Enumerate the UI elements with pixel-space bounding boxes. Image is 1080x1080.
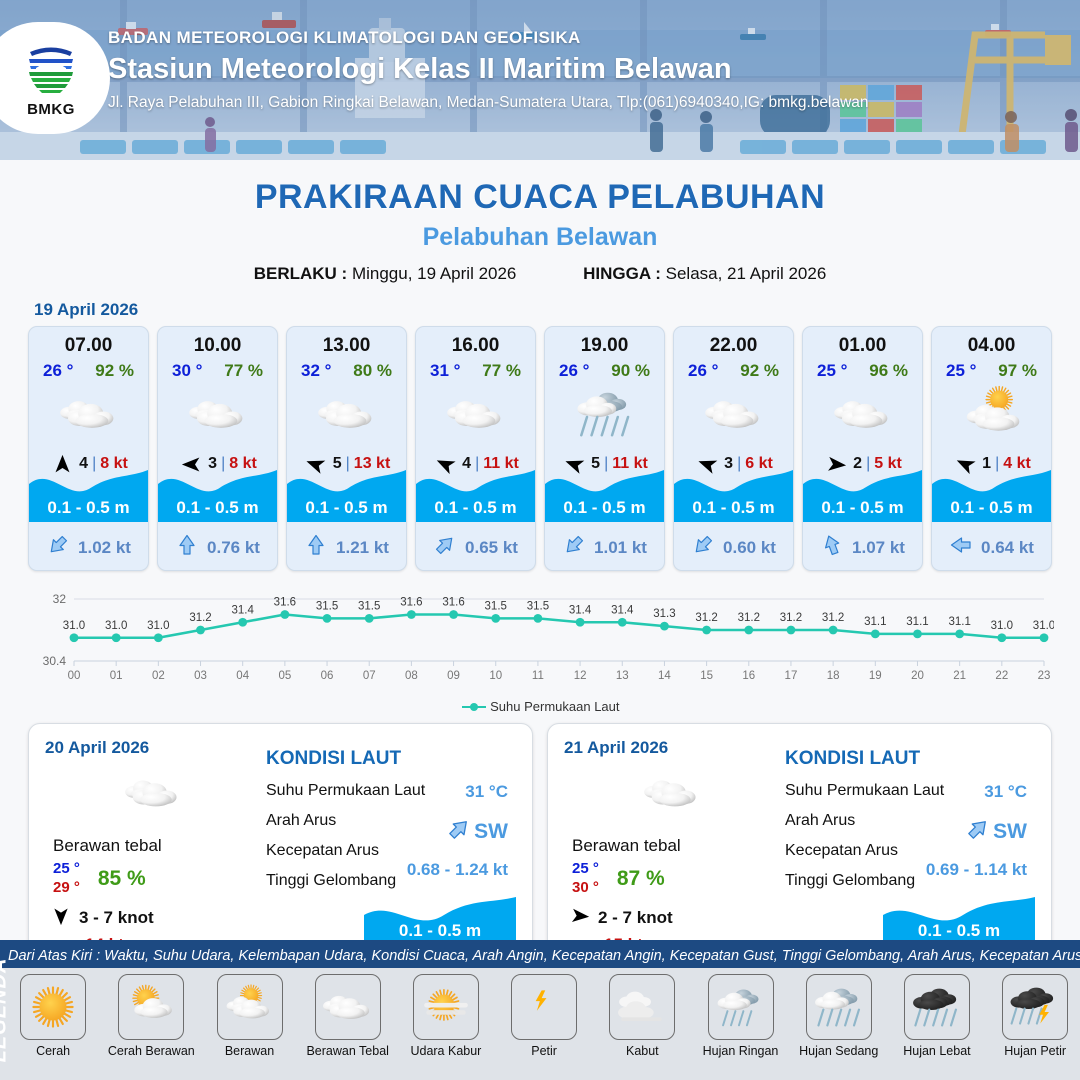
- weather-rain-heavy-icon: [904, 974, 970, 1040]
- legend-item: Hujan Petir: [986, 974, 1080, 1058]
- forecast-card: 04.00 25 ° 97 %: [931, 326, 1052, 571]
- svg-text:03: 03: [194, 670, 207, 682]
- sst-chart-svg: 3230.40001020304050607080910111213141516…: [26, 587, 1054, 687]
- summary-condition: Berawan tebal: [572, 836, 779, 856]
- summary-sea-conditions: KONDISI LAUT Suhu Permukaan Laut Arah Ar…: [260, 738, 516, 953]
- card-current-row: 0.60 kt: [674, 533, 793, 562]
- card-humidity: 90 %: [611, 361, 650, 381]
- summary-left: 21 April 2026 Berawan tebal: [564, 738, 779, 953]
- wave-height: 0.1 - 0.5 m: [287, 498, 406, 518]
- svg-text:16: 16: [742, 670, 755, 682]
- card-temperature: 26 °: [688, 361, 718, 381]
- current-speed: 0.64 kt: [981, 538, 1034, 558]
- current-direction-arrow-icon: [175, 533, 199, 562]
- summary-temp-max: 30 °: [572, 879, 599, 898]
- summary-date: 20 April 2026: [45, 738, 260, 758]
- weather-sun-clouds-icon: [217, 974, 283, 1040]
- summary-temp-max: 29 °: [53, 879, 80, 898]
- sst-chart: 3230.40001020304050607080910111213141516…: [26, 587, 1054, 697]
- summary-condition: Berawan tebal: [53, 836, 260, 856]
- svg-text:19: 19: [869, 670, 882, 682]
- legend-item-label: Hujan Ringan: [703, 1044, 779, 1058]
- card-humidity: 80 %: [353, 361, 392, 381]
- value-current-speed: 0.69 - 1.14 kt: [926, 860, 1027, 880]
- legend-item-row: Cerah Cerah Berawan: [0, 968, 1080, 1080]
- card-humidity: 96 %: [869, 361, 908, 381]
- weather-lightning-icon: [511, 974, 577, 1040]
- current-direction-arrow-icon: [965, 816, 991, 848]
- svg-text:14: 14: [658, 670, 671, 682]
- svg-text:04: 04: [236, 670, 249, 682]
- legend-item-label: Cerah Berawan: [108, 1044, 195, 1058]
- weather-sun-icon: [20, 974, 86, 1040]
- svg-text:31.5: 31.5: [358, 600, 380, 612]
- header-text-block: BADAN METEOROLOGI KLIMATOLOGI DAN GEOFIS…: [108, 28, 869, 112]
- svg-text:13: 13: [616, 670, 629, 682]
- svg-text:31.4: 31.4: [232, 604, 255, 616]
- forecast-card: 16.00 31 ° 77 %: [415, 326, 536, 571]
- card-time: 22.00: [674, 327, 793, 357]
- value-current-direction: SW: [965, 816, 1027, 848]
- card-temp-humidity: 30 ° 77 %: [158, 357, 277, 381]
- weather-cloudy-icon: [416, 383, 535, 445]
- chart-legend: Suhu Permukaan Laut: [0, 699, 1080, 715]
- wave-height: 0.1 - 0.5 m: [932, 498, 1051, 518]
- card-time: 13.00: [287, 327, 406, 357]
- legend-caption: Dari Atas Kiri : Waktu, Suhu Udara, Kele…: [0, 940, 1080, 968]
- current-direction-arrow-icon: [433, 533, 457, 562]
- card-temperature: 26 °: [559, 361, 589, 381]
- card-current-row: 0.76 kt: [158, 533, 277, 562]
- summary-temp-humidity: 25 ° 29 ° 85 %: [53, 860, 260, 898]
- current-speed: 1.07 kt: [852, 538, 905, 558]
- svg-text:10: 10: [489, 670, 502, 682]
- agency-name: BADAN METEOROLOGI KLIMATOLOGI DAN GEOFIS…: [108, 28, 869, 48]
- legend-item: Berawan: [200, 974, 298, 1058]
- legend-body: Dari Atas Kiri : Waktu, Suhu Udara, Kele…: [0, 940, 1080, 1080]
- weather-cloudy-icon: [564, 762, 779, 824]
- hourly-forecast-row: 07.00 26 ° 92 %: [0, 326, 1080, 571]
- legend-item: Berawan Tebal: [299, 974, 397, 1058]
- card-temperature: 30 °: [172, 361, 202, 381]
- validity-row: BERLAKU : Minggu, 19 April 2026 HINGGA :…: [0, 264, 1080, 284]
- legend-item-label: Hujan Lebat: [903, 1044, 970, 1058]
- card-temp-humidity: 32 ° 80 %: [287, 357, 406, 381]
- current-speed: 0.76 kt: [207, 538, 260, 558]
- svg-text:31.1: 31.1: [906, 616, 928, 628]
- valid-until-value: Selasa, 21 April 2026: [666, 264, 827, 283]
- svg-text:31.2: 31.2: [738, 612, 760, 624]
- card-humidity: 77 %: [482, 361, 521, 381]
- summary-humidity: 85 %: [98, 867, 146, 891]
- svg-text:08: 08: [405, 670, 418, 682]
- weather-partly-sunny-icon: [932, 383, 1051, 445]
- legend-item: Petir: [495, 974, 593, 1058]
- card-current-row: 1.02 kt: [29, 533, 148, 562]
- value-current-direction-text: SW: [993, 820, 1027, 844]
- page-header: BMKG BADAN METEOROLOGI KLIMATOLOGI DAN G…: [0, 0, 1080, 160]
- card-temperature: 26 °: [43, 361, 73, 381]
- card-time: 10.00: [158, 327, 277, 357]
- legend-item-label: Petir: [531, 1044, 557, 1058]
- current-speed: 1.02 kt: [78, 538, 131, 558]
- summary-temp-humidity: 25 ° 30 ° 87 %: [572, 860, 779, 898]
- card-time: 19.00: [545, 327, 664, 357]
- svg-text:15: 15: [700, 670, 713, 682]
- card-humidity: 77 %: [224, 361, 263, 381]
- wave-height: 0.1 - 0.5 m: [29, 498, 148, 518]
- svg-text:31.4: 31.4: [569, 604, 592, 616]
- legend-footer: LEGENDA Dari Atas Kiri : Waktu, Suhu Uda…: [0, 940, 1080, 1080]
- svg-text:21: 21: [953, 670, 966, 682]
- current-speed: 0.60 kt: [723, 538, 776, 558]
- svg-text:02: 02: [152, 670, 165, 682]
- current-speed: 0.65 kt: [465, 538, 518, 558]
- station-address: Jl. Raya Pelabuhan III, Gabion Ringkai B…: [108, 94, 869, 112]
- card-temperature: 25 °: [946, 361, 976, 381]
- card-temperature: 25 °: [817, 361, 847, 381]
- weather-sun-cloud-icon: [118, 974, 184, 1040]
- svg-text:31.1: 31.1: [864, 616, 886, 628]
- card-time: 07.00: [29, 327, 148, 357]
- svg-text:31.0: 31.0: [1033, 620, 1054, 632]
- legend-item-label: Hujan Petir: [1004, 1044, 1066, 1058]
- value-current-direction-text: SW: [474, 820, 508, 844]
- forecast-card: 19.00 26 ° 90 %: [544, 326, 665, 571]
- card-humidity: 92 %: [95, 361, 134, 381]
- svg-text:31.6: 31.6: [442, 597, 464, 609]
- current-direction-arrow-icon: [562, 533, 586, 562]
- legend-item-label: Berawan: [225, 1044, 274, 1058]
- weather-cloudy-icon: [674, 383, 793, 445]
- card-temp-humidity: 26 ° 92 %: [29, 357, 148, 381]
- svg-text:31.0: 31.0: [991, 620, 1013, 632]
- legend-item-label: Berawan Tebal: [306, 1044, 388, 1058]
- card-temp-humidity: 31 ° 77 %: [416, 357, 535, 381]
- summary-temp-min: 25 °: [572, 860, 599, 879]
- legend-item: Hujan Sedang: [790, 974, 888, 1058]
- weather-clouds-icon: [315, 974, 381, 1040]
- current-direction-arrow-icon: [304, 533, 328, 562]
- legend-item: Cerah Berawan: [102, 974, 200, 1058]
- summary-humidity: 87 %: [617, 867, 665, 891]
- summary-sea-conditions: KONDISI LAUT Suhu Permukaan Laut Arah Ar…: [779, 738, 1035, 953]
- summary-wind-row: 3 - 7 knot: [51, 906, 260, 931]
- weather-rain-thunder-icon: [1002, 974, 1068, 1040]
- weather-cloudy-icon: [803, 383, 922, 445]
- svg-text:20: 20: [911, 670, 924, 682]
- card-time: 04.00: [932, 327, 1051, 357]
- forecast-card: 10.00 30 ° 77 %: [157, 326, 278, 571]
- svg-text:09: 09: [447, 670, 460, 682]
- forecast-date-label: 19 April 2026: [34, 300, 1080, 320]
- page-subtitle: Pelabuhan Belawan: [0, 223, 1080, 252]
- card-temp-humidity: 25 ° 96 %: [803, 357, 922, 381]
- svg-text:31.2: 31.2: [822, 612, 844, 624]
- legend-item: Kabut: [593, 974, 691, 1058]
- valid-until-label: HINGGA :: [583, 264, 661, 283]
- forecast-card: 13.00 32 ° 80 %: [286, 326, 407, 571]
- legend-side-label: LEGENDA: [0, 958, 12, 1063]
- value-wave-height: 0.1 - 0.5 m: [883, 921, 1035, 941]
- legend-item-label: Hujan Sedang: [799, 1044, 878, 1058]
- value-current-speed: 0.68 - 1.24 kt: [407, 860, 508, 880]
- svg-text:31.2: 31.2: [780, 612, 802, 624]
- svg-text:31.0: 31.0: [63, 620, 85, 632]
- card-humidity: 92 %: [740, 361, 779, 381]
- valid-from-value: Minggu, 19 April 2026: [352, 264, 516, 283]
- svg-text:31.3: 31.3: [653, 608, 675, 620]
- card-temperature: 32 °: [301, 361, 331, 381]
- svg-text:22: 22: [995, 670, 1008, 682]
- wind-direction-arrow-icon: [570, 906, 590, 931]
- title-block: PRAKIRAAN CUACA PELABUHAN Pelabuhan Bela…: [0, 178, 1080, 284]
- svg-text:31.2: 31.2: [695, 612, 717, 624]
- station-name: Stasiun Meteorologi Kelas II Maritim Bel…: [108, 53, 869, 86]
- valid-from-label: BERLAKU :: [254, 264, 348, 283]
- weather-fog-icon: [609, 974, 675, 1040]
- current-direction-arrow-icon: [691, 533, 715, 562]
- weather-cloudy-icon: [29, 383, 148, 445]
- weather-cloudy-icon: [287, 383, 406, 445]
- legend-item-label: Udara Kabur: [410, 1044, 481, 1058]
- svg-text:31.4: 31.4: [611, 604, 634, 616]
- value-sst: 31 °C: [465, 782, 508, 802]
- wave-height: 0.1 - 0.5 m: [674, 498, 793, 518]
- daily-summary-row: 20 April 2026 Berawan tebal: [0, 715, 1080, 968]
- current-direction-arrow-icon: [820, 533, 844, 562]
- wave-height: 0.1 - 0.5 m: [545, 498, 664, 518]
- svg-text:12: 12: [574, 670, 587, 682]
- wave-height: 0.1 - 0.5 m: [803, 498, 922, 518]
- daily-summary-card: 21 April 2026 Berawan tebal: [547, 723, 1052, 968]
- card-temp-humidity: 26 ° 92 %: [674, 357, 793, 381]
- svg-text:31.5: 31.5: [316, 600, 338, 612]
- legend-item: Hujan Ringan: [691, 974, 789, 1058]
- svg-text:31.0: 31.0: [147, 620, 169, 632]
- svg-text:17: 17: [785, 670, 798, 682]
- svg-text:06: 06: [321, 670, 334, 682]
- summary-wind-range: 2 - 7 knot: [598, 908, 673, 928]
- svg-text:31.0: 31.0: [105, 620, 127, 632]
- svg-text:31.5: 31.5: [527, 600, 549, 612]
- card-current-row: 1.07 kt: [803, 533, 922, 562]
- chart-legend-swatch-icon: [461, 700, 487, 715]
- value-sst: 31 °C: [984, 782, 1027, 802]
- current-speed: 1.01 kt: [594, 538, 647, 558]
- summary-wind-range: 3 - 7 knot: [79, 908, 154, 928]
- current-direction-arrow-icon: [949, 533, 973, 562]
- summary-temp-min: 25 °: [53, 860, 80, 879]
- current-direction-arrow-icon: [446, 816, 472, 848]
- svg-text:05: 05: [278, 670, 291, 682]
- current-direction-arrow-icon: [46, 533, 70, 562]
- bmkg-logo-text: BMKG: [27, 101, 75, 118]
- weather-rain-moderate-icon: [806, 974, 872, 1040]
- legend-item: Cerah: [4, 974, 102, 1058]
- svg-text:18: 18: [827, 670, 840, 682]
- chart-legend-label: Suhu Permukaan Laut: [490, 699, 619, 714]
- svg-text:31.2: 31.2: [189, 612, 211, 624]
- sea-conditions-heading: KONDISI LAUT: [266, 748, 516, 770]
- weather-rain-moderate-icon: [545, 383, 664, 445]
- legend-item: Hujan Lebat: [888, 974, 986, 1058]
- wind-direction-arrow-icon: [51, 906, 71, 931]
- sea-conditions-heading: KONDISI LAUT: [785, 748, 1035, 770]
- card-current-row: 0.65 kt: [416, 533, 535, 562]
- legend-item-label: Cerah: [36, 1044, 70, 1058]
- summary-wind-row: 2 - 7 knot: [570, 906, 779, 931]
- forecast-card: 22.00 26 ° 92 %: [673, 326, 794, 571]
- page-title: PRAKIRAAN CUACA PELABUHAN: [0, 178, 1080, 217]
- svg-text:31.6: 31.6: [274, 597, 296, 609]
- svg-text:30.4: 30.4: [43, 654, 67, 668]
- value-current-direction: SW: [446, 816, 508, 848]
- svg-text:01: 01: [110, 670, 123, 682]
- card-temp-humidity: 25 ° 97 %: [932, 357, 1051, 381]
- svg-text:31.1: 31.1: [948, 616, 970, 628]
- weather-cloudy-icon: [158, 383, 277, 445]
- svg-text:23: 23: [1038, 670, 1051, 682]
- daily-summary-card: 20 April 2026 Berawan tebal: [28, 723, 533, 968]
- svg-text:31.5: 31.5: [485, 600, 507, 612]
- card-time: 01.00: [803, 327, 922, 357]
- svg-text:00: 00: [68, 670, 81, 682]
- svg-text:07: 07: [363, 670, 376, 682]
- weather-haze-icon: [413, 974, 479, 1040]
- wave-height: 0.1 - 0.5 m: [158, 498, 277, 518]
- legend-item-label: Kabut: [626, 1044, 659, 1058]
- forecast-card: 01.00 25 ° 96 %: [802, 326, 923, 571]
- legend-item: Udara Kabur: [397, 974, 495, 1058]
- bmkg-logo: BMKG: [0, 22, 110, 134]
- card-temp-humidity: 26 ° 90 %: [545, 357, 664, 381]
- bmkg-emblem-icon: [20, 38, 82, 100]
- card-time: 16.00: [416, 327, 535, 357]
- card-temperature: 31 °: [430, 361, 460, 381]
- current-speed: 1.21 kt: [336, 538, 389, 558]
- svg-text:31.6: 31.6: [400, 597, 422, 609]
- svg-text:32: 32: [53, 592, 67, 606]
- weather-rain-light-icon: [708, 974, 774, 1040]
- card-current-row: 1.01 kt: [545, 533, 664, 562]
- svg-text:11: 11: [532, 670, 544, 682]
- wave-height: 0.1 - 0.5 m: [416, 498, 535, 518]
- value-wave-height: 0.1 - 0.5 m: [364, 921, 516, 941]
- forecast-card: 07.00 26 ° 92 %: [28, 326, 149, 571]
- card-current-row: 0.64 kt: [932, 533, 1051, 562]
- forecast-poster: BMKG BADAN METEOROLOGI KLIMATOLOGI DAN G…: [0, 0, 1080, 1080]
- summary-date: 21 April 2026: [564, 738, 779, 758]
- summary-left: 20 April 2026 Berawan tebal: [45, 738, 260, 953]
- weather-cloudy-icon: [45, 762, 260, 824]
- card-humidity: 97 %: [998, 361, 1037, 381]
- card-current-row: 1.21 kt: [287, 533, 406, 562]
